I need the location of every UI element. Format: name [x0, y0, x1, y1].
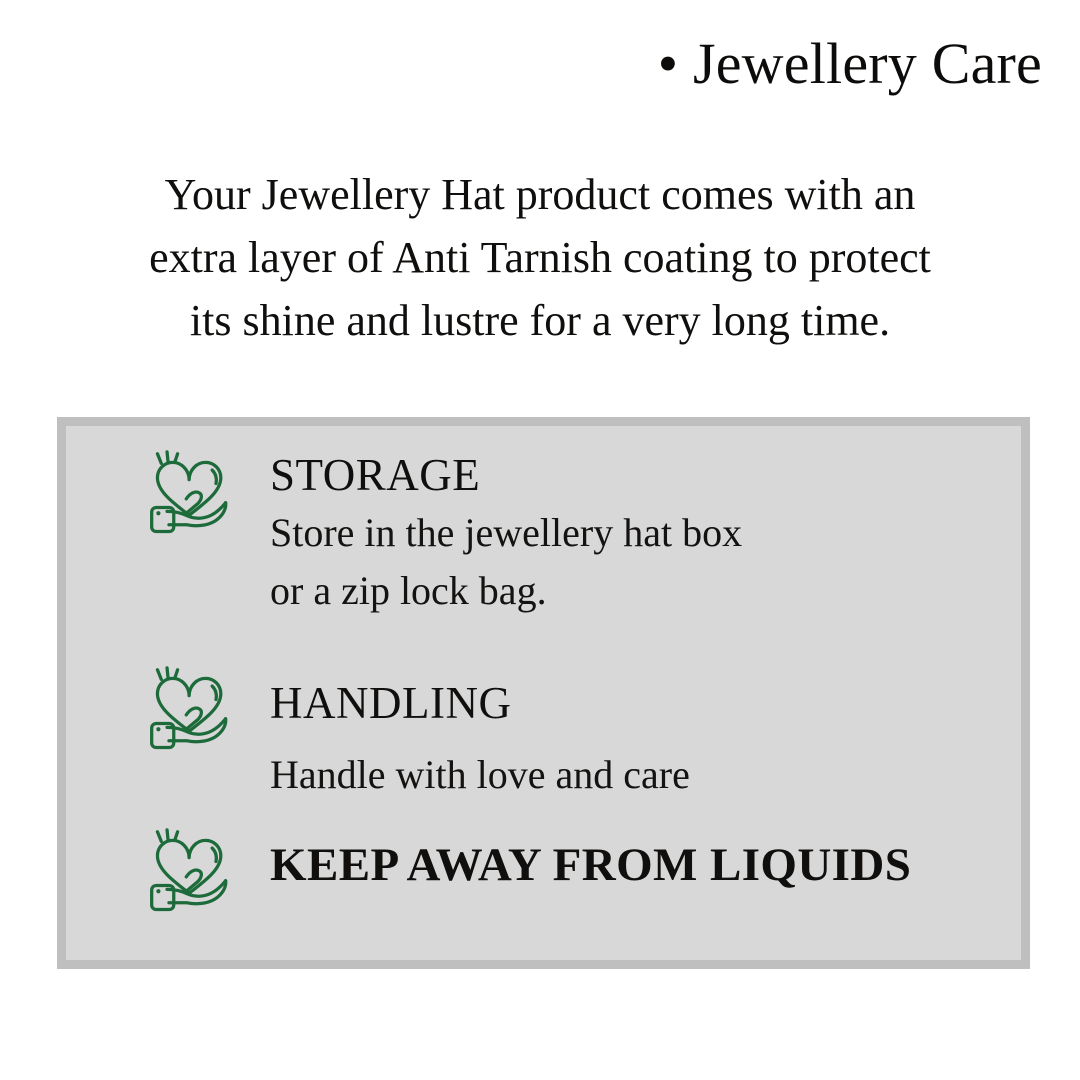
care-row-handling: HANDLING Handle with love and care	[144, 664, 690, 804]
care-sub-storage-1: Store in the jewellery hat box	[270, 504, 742, 562]
jewellery-care-page: • Jewellery Care Your Jewellery Hat prod…	[0, 0, 1080, 1080]
care-row-storage: STORAGE Store in the jewellery hat box o…	[144, 448, 742, 620]
care-row-liquids-text: KEEP AWAY FROM LIQUIDS	[270, 826, 911, 890]
page-title: • Jewellery Care	[658, 30, 1042, 98]
intro-paragraph: Your Jewellery Hat product comes with an…	[90, 163, 990, 352]
intro-line-1: Your Jewellery Hat product comes with an	[90, 163, 990, 226]
care-instructions-box: STORAGE Store in the jewellery hat box o…	[57, 417, 1030, 969]
care-rows: STORAGE Store in the jewellery hat box o…	[66, 426, 1021, 960]
care-heading-storage: STORAGE	[270, 450, 742, 500]
intro-line-3: its shine and lustre for a very long tim…	[90, 289, 990, 352]
care-heading-handling: HANDLING	[270, 678, 690, 728]
page-title-row: • Jewellery Care	[0, 30, 1080, 98]
care-sub-handling-1: Handle with love and care	[270, 746, 690, 804]
hand-holding-heart-icon	[144, 664, 244, 760]
care-sub-storage-2: or a zip lock bag.	[270, 562, 742, 620]
hand-holding-heart-icon	[144, 448, 244, 544]
hand-holding-heart-icon	[144, 826, 244, 922]
care-row-liquids: KEEP AWAY FROM LIQUIDS	[144, 826, 911, 922]
care-row-storage-text: STORAGE Store in the jewellery hat box o…	[270, 448, 742, 620]
intro-line-2: extra layer of Anti Tarnish coating to p…	[90, 226, 990, 289]
care-heading-liquids: KEEP AWAY FROM LIQUIDS	[270, 840, 911, 890]
care-row-handling-text: HANDLING Handle with love and care	[270, 664, 690, 804]
